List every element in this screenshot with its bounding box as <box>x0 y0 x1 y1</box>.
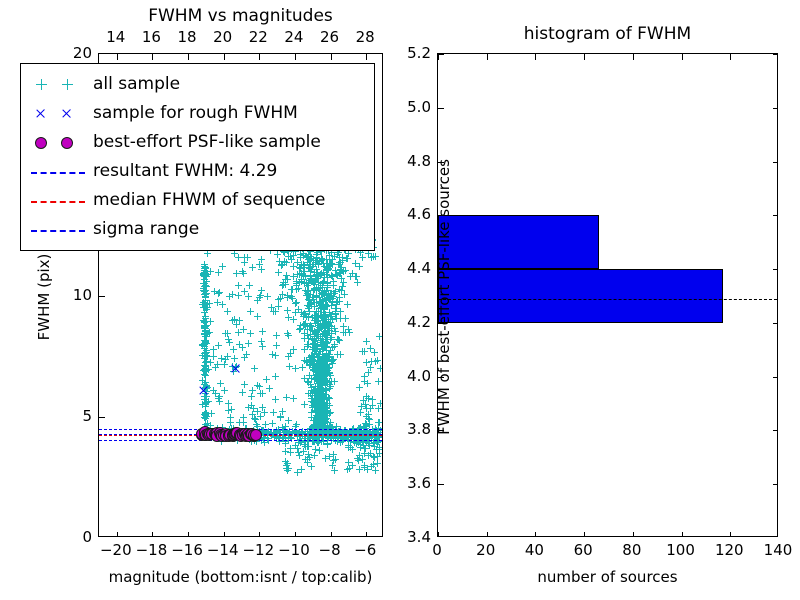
tick-mark <box>366 532 367 537</box>
tick-mark <box>633 532 634 537</box>
tick-mark <box>584 532 585 537</box>
legend-item-label: median FHWM of sequence <box>89 192 325 209</box>
tick-mark <box>99 417 105 418</box>
tick-mark <box>188 54 189 60</box>
tick-mark <box>152 532 153 537</box>
legend-item-label: resultant FWHM: 4.29 <box>89 163 277 180</box>
legend-marker-cross-icon <box>36 108 47 119</box>
tick-mark <box>487 532 488 537</box>
xtick-bottom-4: −12 <box>242 541 274 559</box>
legend-marker-cross-icon <box>62 108 73 119</box>
histogram-median-line <box>438 299 777 300</box>
ytick-right-5.0: 5.0 <box>389 98 431 116</box>
xtick-bottom-6: −8 <box>319 541 341 559</box>
tick-mark <box>633 54 634 60</box>
legend-item-2[interactable]: best-effort PSF-like sample <box>27 128 366 157</box>
xtick-bottom-0: −20 <box>100 541 132 559</box>
legend-marker-line-icon <box>31 172 85 174</box>
legend-item-label: all sample <box>89 76 180 93</box>
xtick-bottom-2: −16 <box>171 541 203 559</box>
ytick-right-4.6: 4.6 <box>389 205 431 223</box>
tick-mark <box>99 296 105 297</box>
xtick-right-20: 20 <box>476 541 495 559</box>
legend: all samplesample for rough FWHMbest-effo… <box>20 63 375 251</box>
tick-mark <box>331 54 332 60</box>
ytick-left-5: 5 <box>52 407 92 425</box>
tick-mark <box>438 108 444 109</box>
xtick-top-24: 24 <box>284 28 303 46</box>
xtick-top-22: 22 <box>249 28 268 46</box>
tick-mark <box>730 54 731 60</box>
tick-mark <box>366 54 367 60</box>
left-panel-xlabel: magnitude (bottom:isnt / top:calib) <box>98 568 383 586</box>
legend-item-1[interactable]: sample for rough FWHM <box>27 99 366 128</box>
tick-mark <box>438 54 444 55</box>
tick-mark <box>773 108 778 109</box>
xtick-right-0: 0 <box>432 541 442 559</box>
tick-mark <box>259 54 260 60</box>
xtick-top-16: 16 <box>142 28 161 46</box>
right-panel-title: histogram of FWHM <box>437 24 778 44</box>
legend-item-4[interactable]: median FHWM of sequence <box>27 186 366 215</box>
tick-mark <box>295 532 296 537</box>
xtick-right-100: 100 <box>666 541 695 559</box>
legend-item-label: sigma range <box>89 221 199 238</box>
tick-mark <box>773 215 778 216</box>
legend-marker-dot-icon <box>35 137 47 149</box>
tick-mark <box>682 54 683 60</box>
tick-mark <box>438 484 444 485</box>
xtick-right-40: 40 <box>525 541 544 559</box>
legend-item-3[interactable]: resultant FWHM: 4.29 <box>27 157 366 186</box>
legend-marker-line-icon <box>31 230 85 232</box>
tick-mark <box>117 532 118 537</box>
ytick-right-4.8: 4.8 <box>389 152 431 170</box>
reference-line-median-fhwm-of-sequence <box>99 435 382 436</box>
xtick-right-120: 120 <box>715 541 744 559</box>
ytick-right-4.4: 4.4 <box>389 259 431 277</box>
tick-mark <box>188 532 189 537</box>
tick-mark <box>773 162 778 163</box>
tick-mark <box>730 532 731 537</box>
xtick-bottom-5: −10 <box>278 541 310 559</box>
tick-mark <box>224 54 225 60</box>
left-panel-ylabel: FWHM (pix) <box>35 237 53 357</box>
left-panel-title: FWHM vs magnitudes <box>98 6 383 26</box>
tick-mark <box>682 532 683 537</box>
tick-mark <box>773 377 778 378</box>
tick-mark <box>224 532 225 537</box>
xtick-right-80: 80 <box>622 541 641 559</box>
xtick-bottom-3: −14 <box>207 541 239 559</box>
ytick-left-10: 10 <box>52 286 92 304</box>
xtick-right-140: 140 <box>764 541 793 559</box>
tick-mark <box>295 54 296 60</box>
tick-mark <box>584 54 585 60</box>
right-panel-xlabel: number of sources <box>437 568 778 586</box>
histogram-reference-line-layer <box>438 54 777 536</box>
ytick-left-0: 0 <box>52 528 92 546</box>
legend-item-label: best-effort PSF-like sample <box>89 134 321 151</box>
legend-marker-plus-icon <box>62 79 73 90</box>
figure-canvas: FWHM vs magnitudes 1416182022242628 −20−… <box>0 0 800 600</box>
xtick-bottom-7: −6 <box>354 541 376 559</box>
xtick-top-14: 14 <box>106 28 125 46</box>
xtick-right-60: 60 <box>574 541 593 559</box>
tick-mark <box>259 532 260 537</box>
ytick-right-3.4: 3.4 <box>389 528 431 546</box>
ytick-right-5.2: 5.2 <box>389 44 431 62</box>
xtick-top-20: 20 <box>213 28 232 46</box>
legend-item-5[interactable]: sigma range <box>27 215 366 244</box>
xtick-top-28: 28 <box>356 28 375 46</box>
ytick-right-3.8: 3.8 <box>389 420 431 438</box>
tick-mark <box>773 484 778 485</box>
right-panel-axes <box>437 53 778 537</box>
tick-mark <box>331 532 332 537</box>
ytick-right-4.2: 4.2 <box>389 313 431 331</box>
legend-marker-line-icon <box>31 201 85 203</box>
tick-mark <box>773 269 778 270</box>
ytick-left-20: 20 <box>52 44 92 62</box>
legend-marker-dot-icon <box>61 137 73 149</box>
ytick-right-4.0: 4.0 <box>389 367 431 385</box>
xtick-top-26: 26 <box>320 28 339 46</box>
xtick-bottom-1: −18 <box>136 541 168 559</box>
tick-mark <box>438 532 439 537</box>
tick-mark <box>117 54 118 60</box>
legend-item-0[interactable]: all sample <box>27 70 366 99</box>
tick-mark <box>773 323 778 324</box>
tick-mark <box>487 54 488 60</box>
ytick-right-3.6: 3.6 <box>389 474 431 492</box>
reference-line-sigma-range-lower <box>99 440 382 441</box>
tick-mark <box>773 430 778 431</box>
legend-marker-plus-icon <box>36 79 47 90</box>
tick-mark <box>773 54 778 55</box>
reference-line-sigma-range-upper <box>99 429 382 430</box>
tick-mark <box>535 54 536 60</box>
right-panel-ylabel: FWHM of best-effort PSF-like sources <box>435 127 453 467</box>
tick-mark <box>152 54 153 60</box>
legend-item-label: sample for rough FWHM <box>89 105 298 122</box>
xtick-top-18: 18 <box>178 28 197 46</box>
tick-mark <box>535 532 536 537</box>
